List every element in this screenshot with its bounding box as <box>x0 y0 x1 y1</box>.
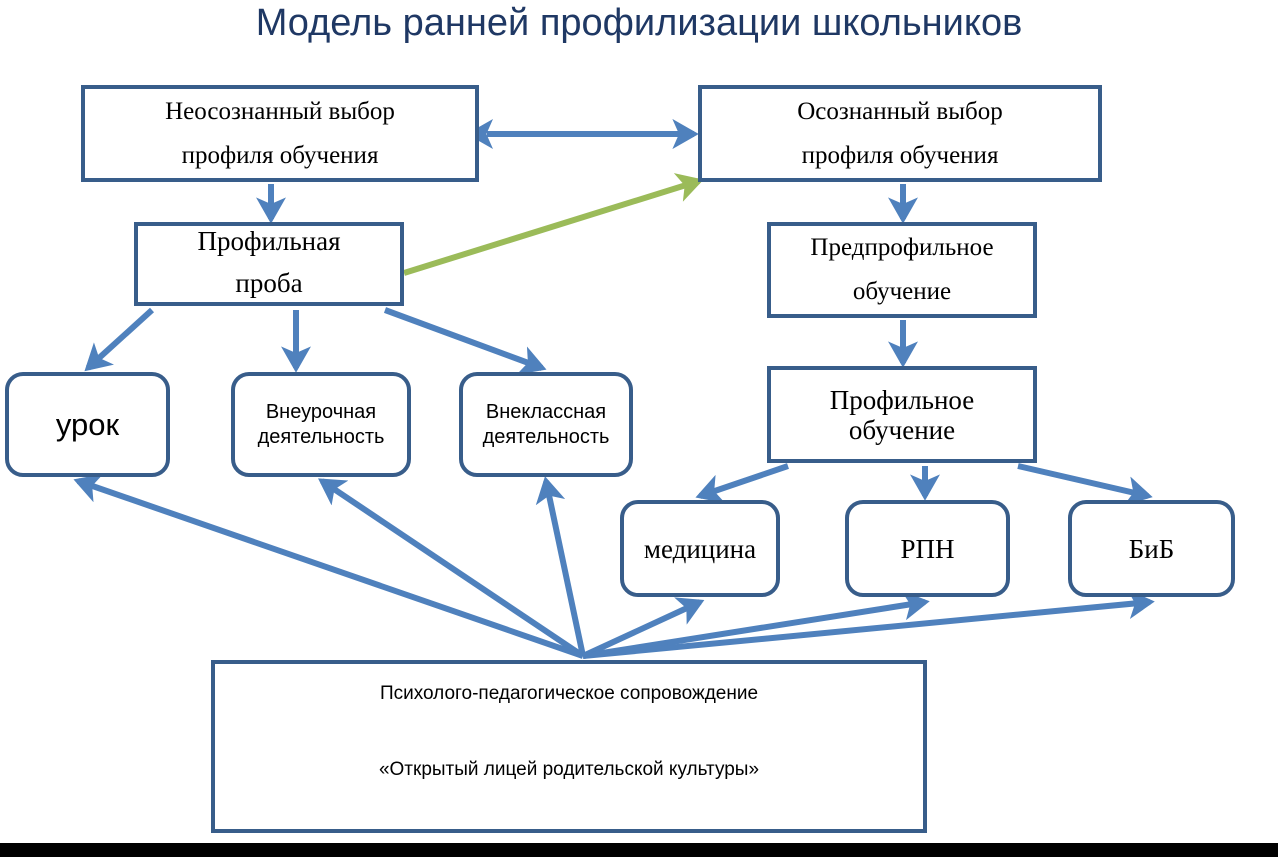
node-bib[interactable]: БиБ <box>1068 500 1235 597</box>
node-profile-probe-line1: Профильная <box>197 226 340 256</box>
node-profile-training-line2: обучение <box>849 415 955 445</box>
node-out-of-class-line1: Внеклассная <box>486 400 606 425</box>
node-preprofile-training[interactable]: Предпрофильное обучение <box>767 222 1037 318</box>
node-profile-probe-line2: проба <box>235 268 302 298</box>
connector-profile-bib <box>1018 466 1148 496</box>
node-rpn-label: РПН <box>900 534 954 564</box>
connector-profile-medicine <box>700 466 788 496</box>
node-preprofile-training-line1: Предпрофильное <box>810 226 993 270</box>
node-out-of-class[interactable]: Внеклассная деятельность <box>459 372 633 477</box>
node-medicine-label: медицина <box>644 534 756 564</box>
node-bib-label: БиБ <box>1129 534 1174 564</box>
node-conscious-choice-line2: профиля обучения <box>802 134 999 178</box>
node-lesson-label: урок <box>56 406 119 444</box>
connector-support-outofclass <box>546 481 583 656</box>
node-extracurricular-line1: Внеурочная <box>266 400 376 425</box>
node-support-line2: «Открытый лицей родительской культуры» <box>379 758 759 782</box>
node-conscious-choice-line1: Осознанный выбор <box>797 90 1003 134</box>
connector-probe-conscious-green <box>404 181 699 273</box>
connector-support-extracurricular <box>322 481 583 656</box>
slide-canvas: Модель ранней профилизации школьников <box>0 0 1278 857</box>
node-support-line1: Психолого-педагогическое сопровождение <box>380 682 758 706</box>
node-profile-training-line1: Профильное <box>830 385 975 415</box>
node-preprofile-training-line2: обучение <box>853 270 951 314</box>
node-unconscious-choice-line1: Неосознанный выбор <box>165 90 395 134</box>
node-out-of-class-line2: деятельность <box>483 425 610 450</box>
node-profile-probe[interactable]: Профильная проба <box>134 222 404 306</box>
connector-probe-lesson <box>88 310 152 368</box>
node-extracurricular-line2: деятельность <box>258 425 385 450</box>
node-profile-training[interactable]: Профильное обучение <box>767 366 1037 463</box>
node-lesson[interactable]: урок <box>5 372 170 477</box>
node-extracurricular[interactable]: Внеурочная деятельность <box>231 372 411 477</box>
node-unconscious-choice[interactable]: Неосознанный выбор профиля обучения <box>81 85 479 182</box>
node-psych-pedagogical-support[interactable]: Психолого-педагогическое сопровождение «… <box>211 660 927 833</box>
node-medicine[interactable]: медицина <box>620 500 780 597</box>
node-conscious-choice[interactable]: Осознанный выбор профиля обучения <box>698 85 1102 182</box>
footer-bar <box>0 843 1278 857</box>
connector-support-lesson <box>78 481 583 656</box>
node-unconscious-choice-line2: профиля обучения <box>182 134 379 178</box>
node-rpn[interactable]: РПН <box>845 500 1010 597</box>
connector-probe-outofclass <box>385 310 542 368</box>
